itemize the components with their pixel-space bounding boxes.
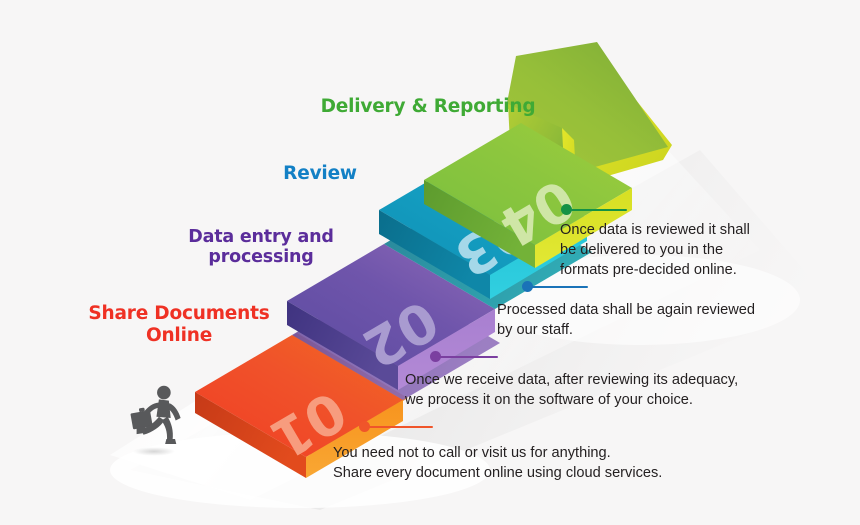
step-description-02: Once we receive data, after reviewing it… bbox=[405, 371, 785, 411]
infographic-canvas: 01 02 03 bbox=[0, 0, 860, 525]
connector-line-03 bbox=[531, 286, 588, 288]
stage-label-03: Review bbox=[234, 163, 406, 185]
connector-line-04 bbox=[570, 209, 627, 211]
connector-04 bbox=[561, 204, 627, 216]
step-description-04: Once data is reviewed it shall be delive… bbox=[560, 221, 775, 281]
stage-label-01: Share Documents Online bbox=[74, 303, 284, 346]
connector-03 bbox=[522, 281, 588, 293]
step-description-01: You need not to call or visit us for any… bbox=[333, 444, 753, 484]
step-description-03: Processed data shall be again reviewed b… bbox=[497, 301, 797, 341]
connector-line-02 bbox=[439, 356, 498, 358]
connector-line-01 bbox=[368, 426, 433, 428]
stage-label-04: Delivery & Reporting bbox=[300, 96, 556, 118]
connector-02 bbox=[430, 351, 498, 363]
stage-label-02: Data entry and processing bbox=[156, 227, 366, 268]
connector-01 bbox=[359, 421, 433, 433]
